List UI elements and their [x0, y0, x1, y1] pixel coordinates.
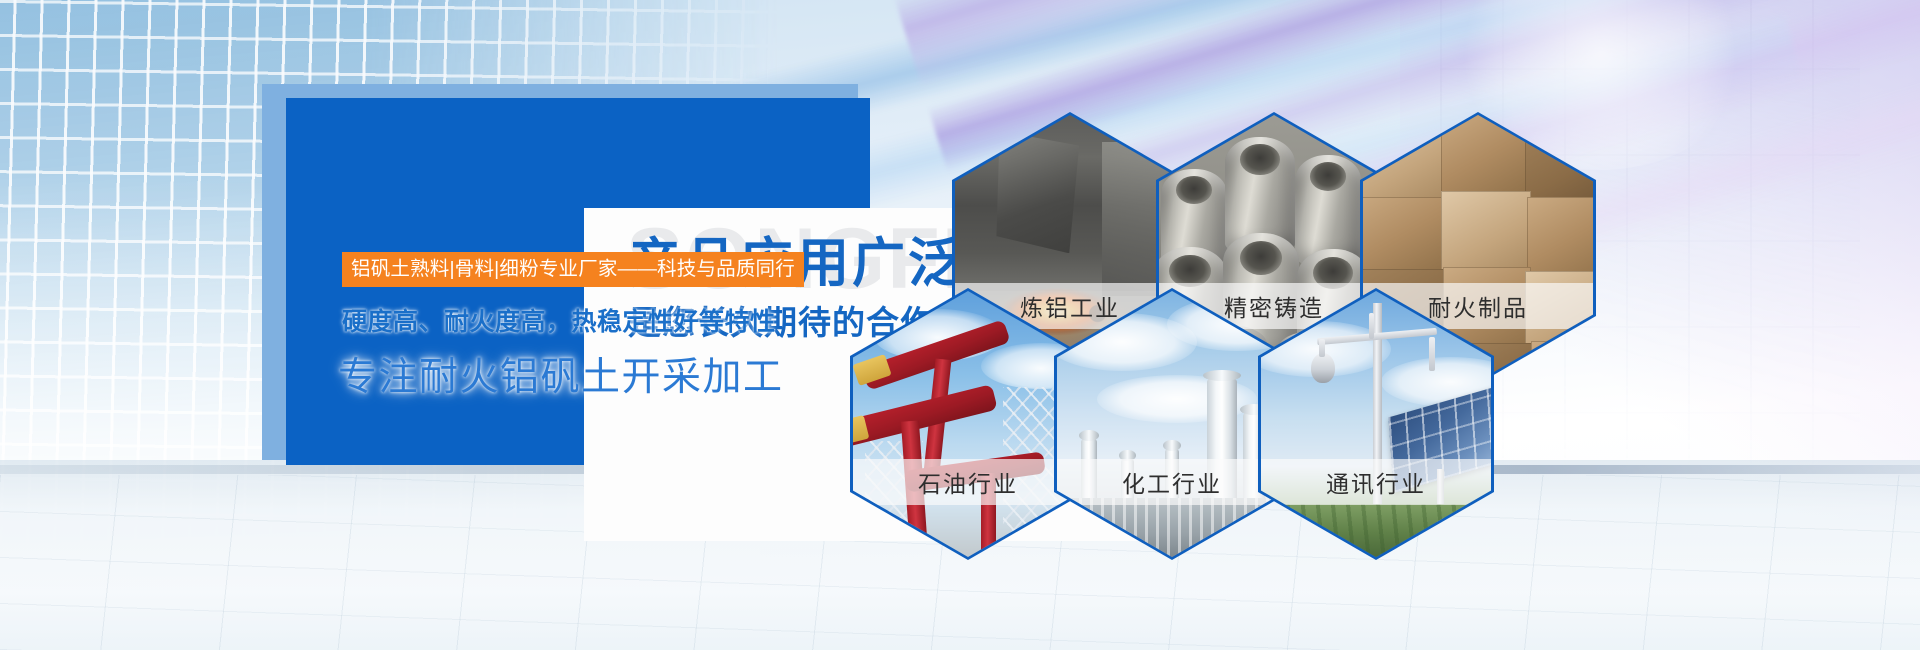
security-camera-dome — [1311, 353, 1335, 383]
hex-label-telecom: 通讯行业 — [1261, 459, 1491, 505]
refractory-brick — [1441, 115, 1529, 195]
refractory-brick — [1531, 341, 1593, 381]
features-text: 硬度高、耐火度高，热稳定性好等特性 — [342, 302, 776, 338]
promotional-banner: SONGFENG 产品应用广泛 是您长久期待的合作伙伴 铝矾土熟料|骨料|细粉专… — [0, 0, 1920, 650]
anemometer-stem — [1369, 313, 1374, 339]
camera-mount — [1319, 339, 1325, 357]
tagline-text: 专注耐火铝矾土开采加工 — [338, 346, 784, 402]
plant-ground — [1057, 498, 1287, 557]
hexagon-grid: 炼铝工业 精密铸造 — [0, 0, 1920, 650]
refractory-brick — [1527, 197, 1593, 275]
sensor-pole — [1429, 337, 1435, 371]
smelting-wall-panel — [996, 131, 1079, 253]
ground-vegetation — [1261, 504, 1491, 557]
hex-label-chemical: 化工行业 — [1057, 459, 1287, 505]
accent-ribbon: 铝矾土熟料|骨料|细粉专业厂家——科技与品质同行 — [342, 252, 804, 287]
pumpjack-beam — [853, 384, 998, 448]
refractory-brick — [1525, 121, 1593, 201]
refractory-brick — [1363, 123, 1445, 201]
refractory-brick — [1363, 197, 1445, 273]
refractory-brick — [1441, 191, 1531, 273]
hex-label-petroleum: 石油行业 — [853, 459, 1083, 505]
